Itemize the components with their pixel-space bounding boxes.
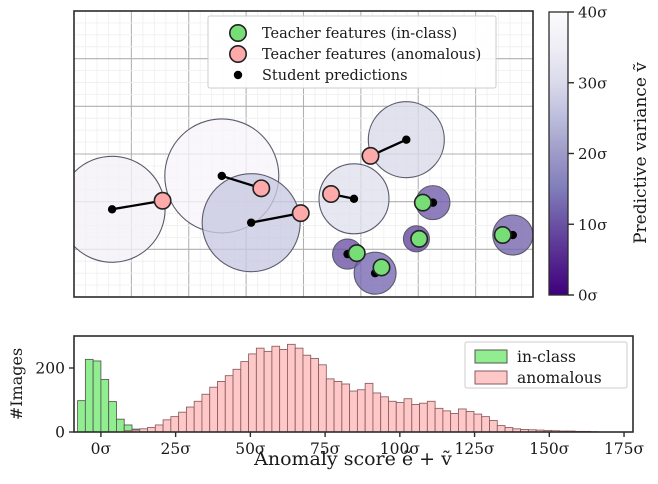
histogram-bar-anomalous: [388, 401, 396, 432]
histogram-bar-anomalous: [249, 354, 257, 432]
histogram-bar-in-class: [85, 359, 93, 432]
colorbar-tick-label: 20σ: [578, 145, 607, 163]
histogram-bar-anomalous: [326, 379, 334, 432]
anomaly-histogram-panel: 0σ25σ50σ75σ100σ125σ150σ175σ 0200 Anomaly…: [0, 320, 658, 484]
histogram-y-axis-label: #Images: [7, 348, 26, 420]
teacher-feature-marker-in-class: [349, 245, 365, 261]
histogram-bar-anomalous: [443, 411, 451, 432]
scatter-legend: Teacher features (in-class)Teacher featu…: [208, 16, 496, 88]
histogram-bar-anomalous: [194, 401, 202, 432]
histogram-bar-anomalous: [458, 409, 466, 432]
histogram-bar-anomalous: [264, 351, 272, 432]
x-tick-label: 25σ: [160, 440, 191, 458]
histogram-legend-swatch-anomalous: [475, 371, 507, 384]
histogram-bar-anomalous: [497, 426, 505, 432]
histogram-legend-label-in-class: in-class: [517, 348, 576, 366]
teacher-feature-marker-anomalous: [154, 193, 170, 209]
histogram-bar-anomalous: [233, 369, 241, 432]
histogram-bar-anomalous: [482, 417, 490, 432]
histogram-legend: in-classanomalous: [465, 342, 627, 388]
x-tick-label: 0σ: [91, 440, 112, 458]
histogram-bar-anomalous: [295, 348, 303, 432]
histogram-bar-anomalous: [256, 348, 264, 432]
x-tick-label: 150σ: [529, 440, 570, 458]
student-prediction-dot: [218, 172, 226, 180]
histogram-bar-anomalous: [241, 362, 249, 432]
histogram-legend-label-anomalous: anomalous: [517, 369, 602, 387]
histogram-bar-anomalous: [272, 346, 280, 432]
histogram-bar-anomalous: [179, 412, 187, 432]
histogram-x-axis-label: Anomaly score ẽ + ṽ: [253, 448, 452, 470]
x-tick-label: 125σ: [454, 440, 495, 458]
histogram-bar-anomalous: [280, 349, 288, 432]
colorbar-ticks: 0σ10σ20σ30σ40σ: [568, 4, 607, 305]
legend-label-2: Student predictions: [262, 68, 408, 84]
feature-scatter-panel: Teacher features (in-class)Teacher featu…: [0, 0, 658, 320]
histogram-bar-anomalous: [303, 355, 311, 432]
histogram-bar-anomalous: [319, 365, 327, 432]
teacher-feature-marker-in-class: [415, 194, 431, 210]
colorbar-label: Predictive variance ṽ: [631, 62, 651, 244]
figure-root: Teacher features (in-class)Teacher featu…: [0, 0, 658, 484]
histogram-bar-anomalous: [186, 407, 194, 432]
histogram-bar-anomalous: [404, 399, 412, 432]
histogram-bar-anomalous: [350, 391, 358, 432]
histogram-bar-anomalous: [357, 390, 365, 432]
histogram-bar-anomalous: [163, 420, 171, 432]
histogram-bar-in-class: [109, 402, 117, 432]
student-prediction-dot: [247, 218, 255, 226]
histogram-bar-in-class: [116, 419, 124, 432]
x-tick-label: 175σ: [604, 440, 645, 458]
legend-marker-in-class: [230, 25, 246, 41]
histogram-bar-anomalous: [420, 403, 428, 432]
student-prediction-dot: [402, 136, 410, 144]
teacher-feature-marker-anomalous: [323, 186, 339, 202]
histogram-bar-anomalous: [287, 344, 295, 432]
histogram-bar-in-class: [93, 361, 101, 432]
teacher-feature-marker-anomalous: [362, 148, 378, 164]
histogram-bar-anomalous: [381, 397, 389, 432]
histogram-bar-anomalous: [466, 412, 474, 432]
histogram-bar-anomalous: [342, 384, 350, 432]
teacher-feature-marker-anomalous: [293, 205, 309, 221]
histogram-bar-in-class: [78, 401, 86, 432]
student-prediction-dot: [350, 195, 358, 203]
student-prediction-dot: [108, 205, 116, 213]
histogram-bar-anomalous: [155, 425, 163, 432]
teacher-feature-marker-in-class: [373, 259, 389, 275]
histogram-bar-anomalous: [365, 383, 373, 432]
histogram-bar-anomalous: [171, 417, 179, 432]
colorbar-tick-label: 30σ: [578, 74, 607, 92]
colorbar-gradient: [549, 12, 568, 295]
histogram-bar-anomalous: [225, 376, 233, 432]
histogram-bar-anomalous: [373, 393, 381, 432]
histogram-y-ticks: 0200: [35, 360, 74, 442]
histogram-bar-anomalous: [210, 387, 218, 432]
histogram-bar-anomalous: [474, 414, 482, 432]
legend-label-0: Teacher features (in-class): [262, 26, 457, 42]
legend-marker-anomalous: [230, 46, 246, 62]
histogram-bar-anomalous: [451, 413, 459, 432]
colorbar-tick-label: 10σ: [578, 216, 607, 234]
histogram-bar-anomalous: [396, 403, 404, 432]
teacher-feature-marker-anomalous: [253, 180, 269, 196]
histogram-bar-anomalous: [217, 381, 225, 432]
histogram-bar-in-class: [101, 380, 109, 432]
histogram-bar-anomalous: [412, 404, 420, 432]
histogram-bar-anomalous: [202, 394, 210, 432]
legend-label-1: Teacher features (anomalous): [262, 47, 481, 63]
teacher-feature-marker-in-class: [411, 231, 427, 247]
y-tick-label: 200: [35, 360, 65, 378]
colorbar-tick-label: 0σ: [578, 287, 598, 305]
histogram-bar-anomalous: [427, 401, 435, 432]
histogram-bar-anomalous: [490, 420, 498, 432]
histogram-bar-anomalous: [435, 408, 443, 432]
histogram-legend-swatch-in-class: [475, 350, 507, 363]
y-tick-label: 0: [55, 424, 65, 442]
histogram-bar-anomalous: [311, 358, 319, 432]
colorbar-tick-label: 40σ: [578, 4, 607, 22]
histogram-bar-anomalous: [334, 381, 342, 432]
teacher-feature-marker-in-class: [495, 227, 511, 243]
legend-marker-student-dot: [234, 71, 242, 79]
